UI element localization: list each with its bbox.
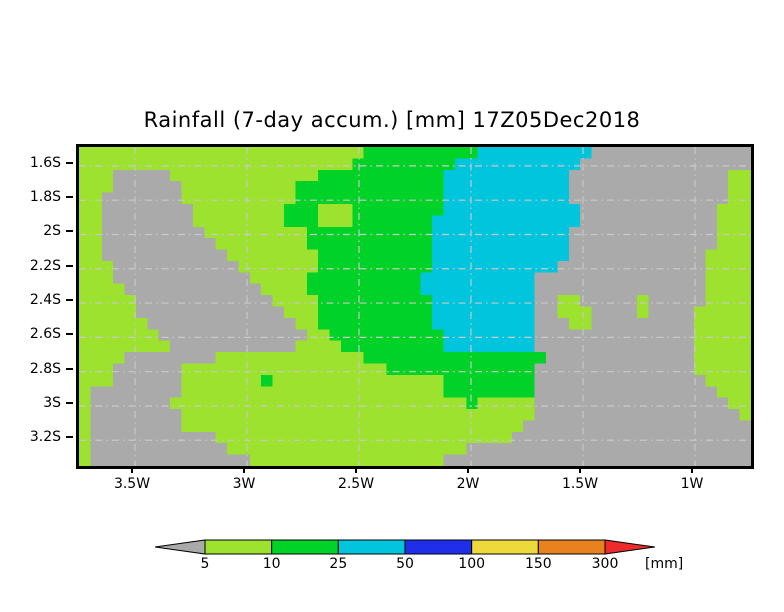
- colorbar: [mm] 5102550100150300: [155, 530, 655, 580]
- colorbar-tick-label: 5: [201, 556, 210, 572]
- y-axis-label: 1.8S: [0, 189, 61, 205]
- y-axis-tick: [66, 230, 73, 232]
- y-axis-tick: [66, 402, 73, 404]
- colorbar-tick-label: 25: [329, 556, 347, 572]
- x-axis-label: 3.5W: [114, 476, 150, 492]
- colorbar-tick-label: 150: [525, 556, 552, 572]
- colorbar-tick-label: 100: [458, 556, 485, 572]
- plot-frame: [76, 144, 754, 469]
- y-axis-tick: [66, 196, 73, 198]
- figure-canvas: Rainfall (7-day accum.) [mm] 17Z05Dec201…: [0, 0, 784, 612]
- chart-title: Rainfall (7-day accum.) [mm] 17Z05Dec201…: [0, 108, 784, 132]
- colorbar-tick-label: 300: [592, 556, 619, 572]
- x-axis-tick: [243, 466, 245, 473]
- y-axis-label: 1.6S: [0, 155, 61, 171]
- y-axis-tick: [66, 265, 73, 267]
- y-axis-label: 2.6S: [0, 326, 61, 342]
- y-axis-tick: [66, 436, 73, 438]
- x-axis-label: 1.5W: [562, 476, 598, 492]
- y-axis-tick: [66, 368, 73, 370]
- x-axis-tick: [131, 466, 133, 473]
- x-axis-tick: [579, 466, 581, 473]
- y-axis-label: 2S: [0, 223, 61, 239]
- x-axis-label: 1W: [681, 476, 704, 492]
- x-axis-label: 2W: [457, 476, 480, 492]
- y-axis-tick: [66, 162, 73, 164]
- x-axis-tick: [355, 466, 357, 473]
- x-axis-label: 2.5W: [338, 476, 374, 492]
- colorbar-tick-label: 10: [263, 556, 281, 572]
- plot-area: [79, 147, 751, 466]
- y-axis-label: 3S: [0, 395, 61, 411]
- x-axis-label: 3W: [233, 476, 256, 492]
- rainfall-heatmap: [79, 147, 751, 466]
- x-axis-tick: [467, 466, 469, 473]
- y-axis-label: 3.2S: [0, 429, 61, 445]
- colorbar-tick-label: 50: [396, 556, 414, 572]
- y-axis-label: 2.8S: [0, 361, 61, 377]
- colorbar-unit-label: [mm]: [645, 556, 683, 572]
- x-axis-tick: [691, 466, 693, 473]
- y-axis-tick: [66, 333, 73, 335]
- y-axis-label: 2.2S: [0, 258, 61, 274]
- y-axis-tick: [66, 299, 73, 301]
- y-axis-label: 2.4S: [0, 292, 61, 308]
